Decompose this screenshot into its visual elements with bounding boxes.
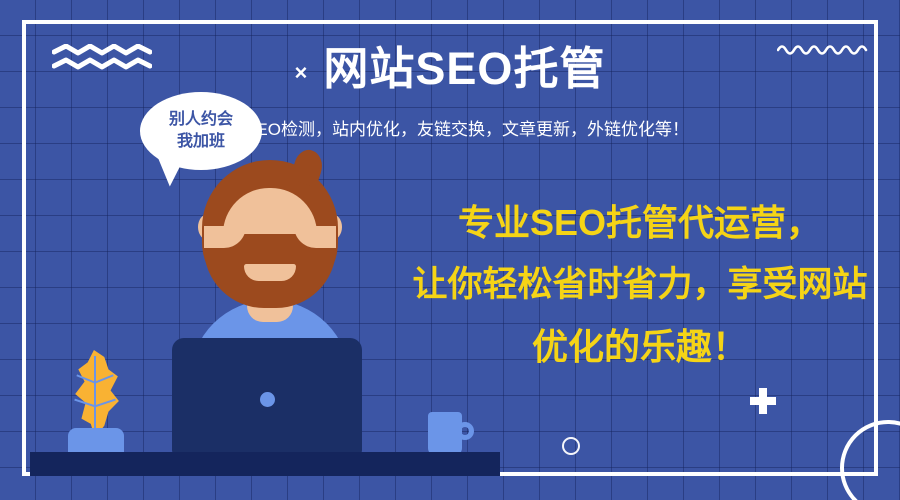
plant-leaf <box>70 350 122 438</box>
leaf-vein-main <box>94 356 96 436</box>
close-icon: × <box>295 62 308 84</box>
laptop-icon <box>172 338 362 456</box>
laptop-logo-dot <box>260 392 275 407</box>
desk-surface <box>30 452 500 476</box>
headline-block: 专业SEO托管代运营， 让你轻松省时省力，享受网站 优化的乐趣！ <box>380 192 900 378</box>
page-title: 网站SEO托管 <box>323 46 605 91</box>
speech-bubble-line-1: 别人约会 <box>169 109 233 131</box>
person-illustration <box>190 160 350 360</box>
potted-plant-icon <box>62 350 124 454</box>
mug-body <box>428 412 462 456</box>
seo-hosting-banner: × 网站SEO托管 含：SEO检测，站内优化，友链交换，文章更新，外链优化等！ … <box>0 0 900 500</box>
headline-line-3: 优化的乐趣！ <box>380 316 900 378</box>
speech-bubble-line-2: 我加班 <box>169 131 233 153</box>
coffee-mug-icon <box>428 412 476 456</box>
headline-line-2: 让你轻松省时省力，享受网站 <box>380 254 900 316</box>
small-circle-icon <box>562 437 580 455</box>
speech-bubble: 别人约会 我加班 <box>140 92 262 170</box>
plus-mark-icon <box>750 388 776 414</box>
mouth <box>244 264 296 281</box>
speech-bubble-text: 别人约会 我加班 <box>169 109 233 153</box>
headline-line-1: 专业SEO托管代运营， <box>380 192 900 254</box>
title-row: × 网站SEO托管 <box>0 46 900 91</box>
page-subtitle: 含：SEO检测，站内优化，友链交换，文章更新，外链优化等！ <box>0 120 900 140</box>
